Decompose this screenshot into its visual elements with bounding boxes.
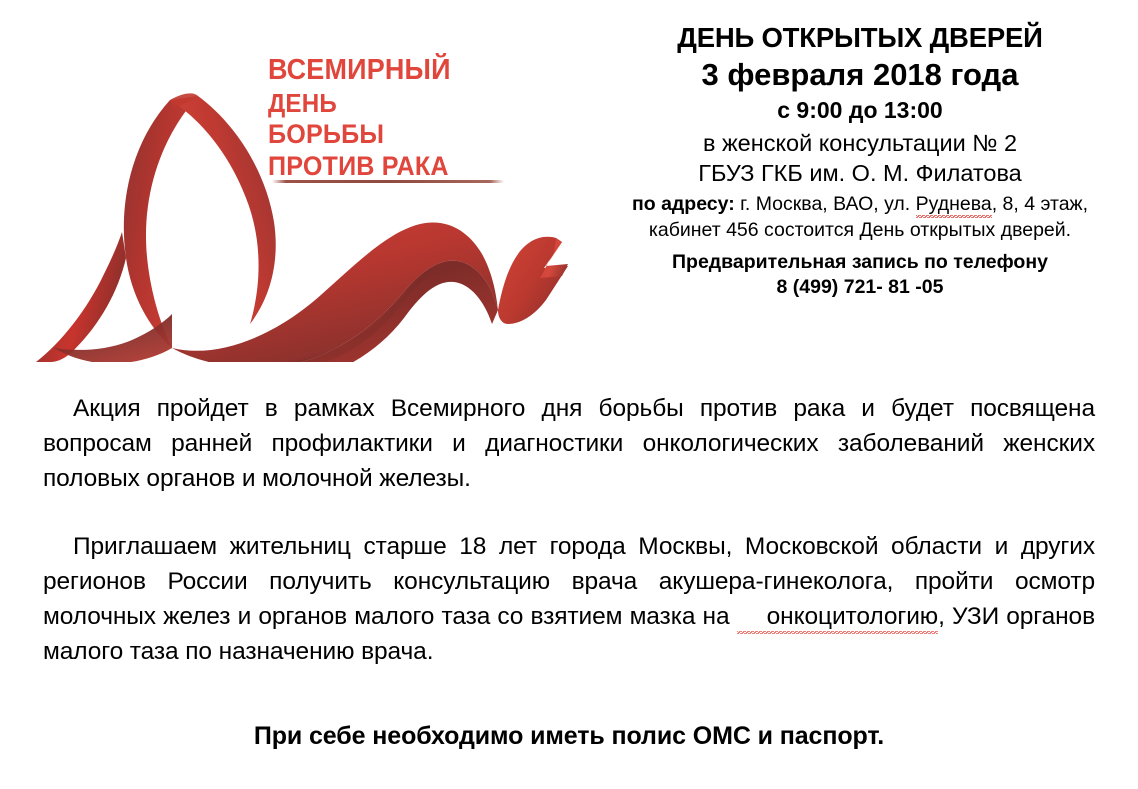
paragraph-2: Приглашаем жительниц старше 18 лет город… bbox=[43, 530, 1095, 669]
event-header-block: ДЕНЬ ОТКРЫТЫХ ДВЕРЕЙ 3 февраля 2018 года… bbox=[610, 22, 1110, 301]
event-address: по адресу: г. Москва, ВАО, ул. Руднева, … bbox=[610, 192, 1110, 244]
booking-label: Предварительная запись по телефону bbox=[610, 250, 1110, 275]
event-place-line-2: ГБУЗ ГКБ им. О. М. Филатова bbox=[610, 158, 1110, 188]
paragraph-1: Акция пройдет в рамках Всемирного дня бо… bbox=[43, 392, 1095, 496]
poster-body: Акция пройдет в рамках Всемирного дня бо… bbox=[43, 392, 1095, 669]
logo-line-4: ПРОТИВ РАКА bbox=[268, 153, 501, 180]
logo-line-2: ДЕНЬ bbox=[268, 90, 501, 116]
poster-page: ВСЕМИРНЫЙ ДЕНЬ БОРЬБЫ ПРОТИВ РАКА ДЕНЬ О… bbox=[0, 0, 1138, 789]
poster-header-area: ВСЕМИРНЫЙ ДЕНЬ БОРЬБЫ ПРОТИВ РАКА ДЕНЬ О… bbox=[0, 0, 1138, 375]
logo-divider-rule bbox=[272, 180, 504, 183]
event-title: ДЕНЬ ОТКРЫТЫХ ДВЕРЕЙ bbox=[610, 22, 1110, 54]
event-place-line-1: в женской консультации № 2 bbox=[610, 128, 1110, 158]
booking-phone: 8 (499) 721- 81 -05 bbox=[610, 275, 1110, 300]
address-label: по адресу: bbox=[632, 193, 735, 215]
logo-line-3: БОРЬБЫ bbox=[268, 121, 501, 148]
paragraph-2-misspelled-word: онкоцитологию bbox=[737, 600, 938, 635]
address-street-misspelled: Руднева bbox=[916, 193, 992, 216]
logo-wordmark: ВСЕМИРНЫЙ ДЕНЬ БОРЬБЫ ПРОТИВ РАКА bbox=[268, 56, 518, 185]
footer-notice: При себе необходимо иметь полис ОМС и па… bbox=[0, 722, 1138, 751]
event-time: с 9:00 до 13:00 bbox=[610, 96, 1110, 125]
address-text-part-1: г. Москва, ВАО, ул. bbox=[735, 193, 916, 215]
logo-line-1: ВСЕМИРНЫЙ bbox=[268, 56, 501, 85]
event-date: 3 февраля 2018 года bbox=[610, 56, 1110, 93]
